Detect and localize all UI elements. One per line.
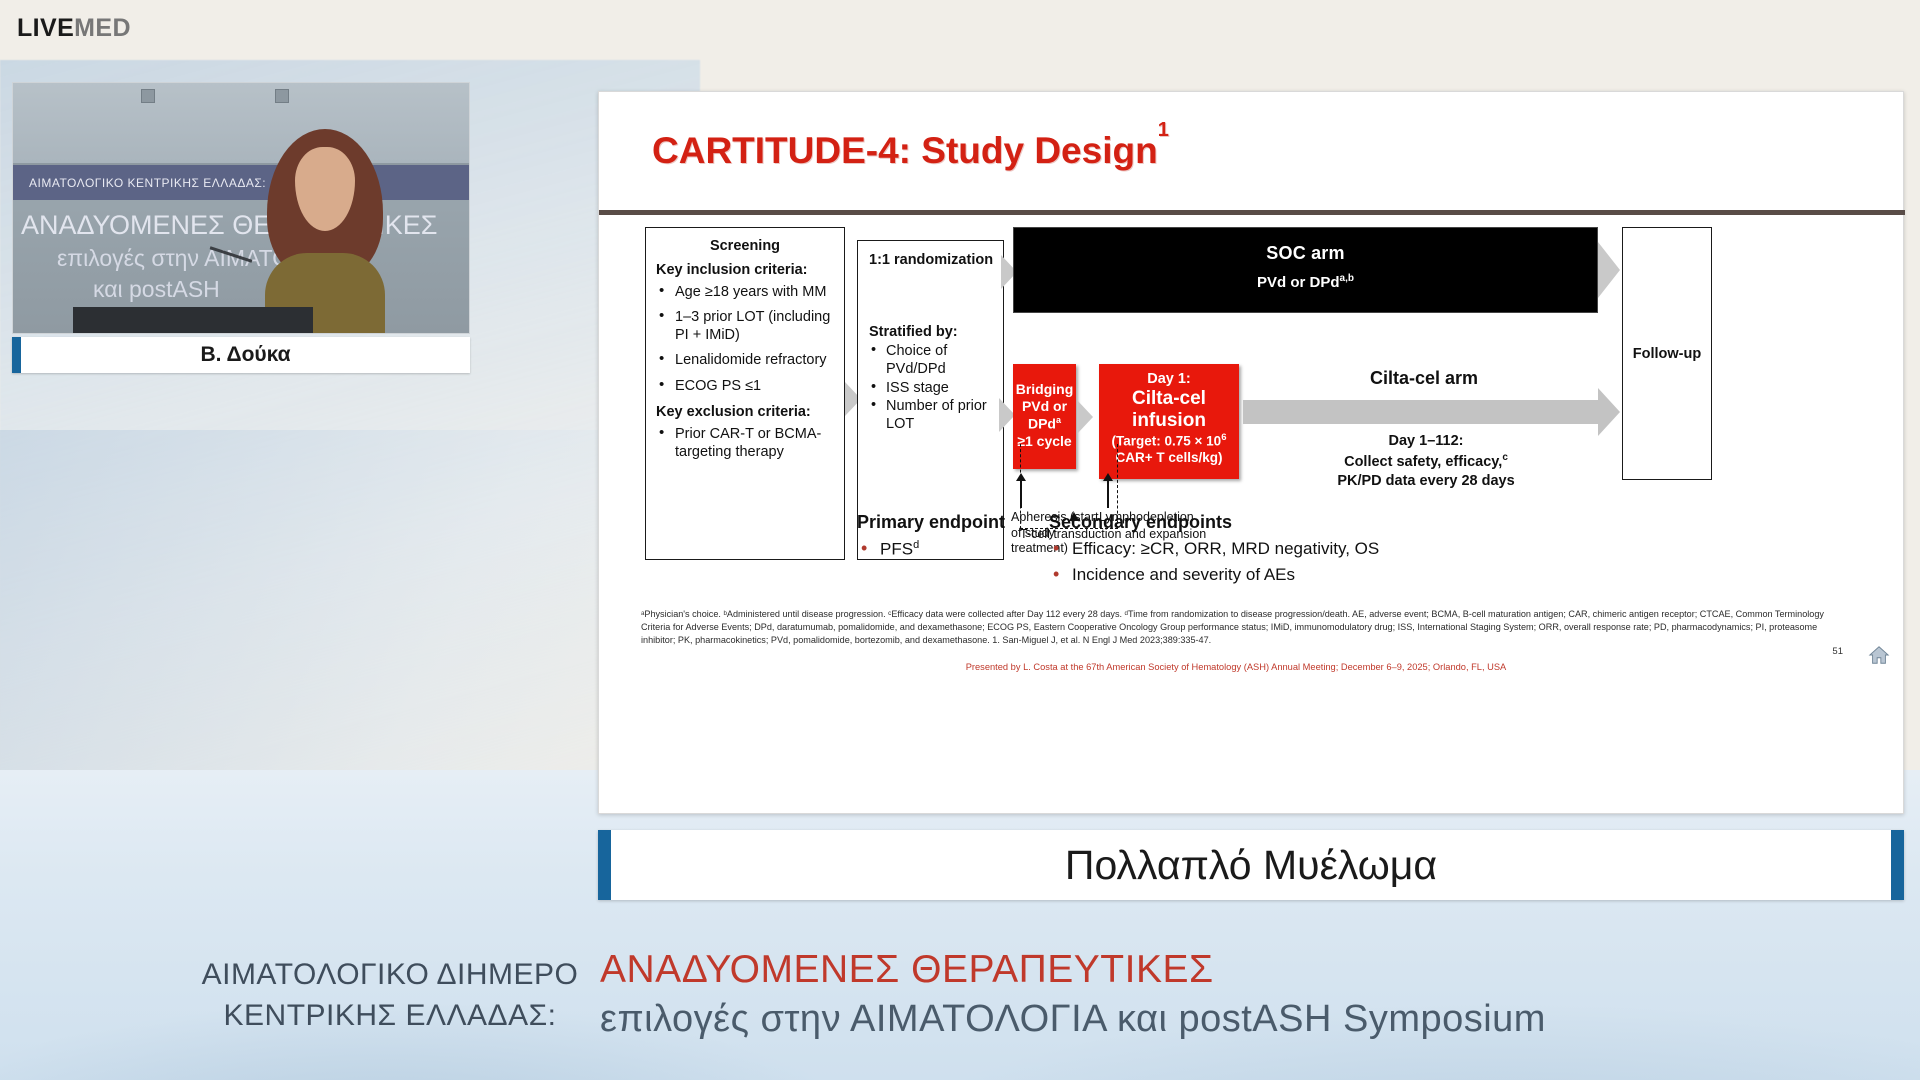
screening-box: Screening Key inclusion criteria: Age ≥1…: [645, 227, 845, 560]
list-item: Age ≥18 years with MM: [656, 283, 834, 301]
list-item: 1–3 prior LOT (including PI + IMiD): [656, 308, 834, 344]
speaker-panel[interactable]: ΑΙΜΑΤΟΛΟΓΙΚΟ ΚΕΝΤΡΙΚΗΣ ΕΛΛΑΔΑΣ: ΑΝΑΔΥΟΜΕ…: [12, 82, 470, 373]
chevron-right-icon-bridging: [1077, 400, 1093, 434]
event-title-right: ΑΝΑΔΥΟΜΕΝΕΣ ΘΕΡΑΠΕΥΤΙΚΕΣ επιλογές στην Α…: [600, 948, 1546, 1041]
follow-up-box: Follow-up: [1622, 227, 1712, 480]
cilta-target-line-2: CAR+ T cells/kg): [1099, 450, 1239, 466]
video-screen-line-3: και postASH: [21, 274, 470, 305]
secondary-endpoints-list: Efficacy: ≥CR, ORR, MRD negativity, OS I…: [1049, 538, 1379, 587]
video-wall-pin-right: [275, 89, 289, 103]
event-title-left-line-1: ΑΙΜΑΤΟΛΟΓΙΚΟ ΔΙΗΜΕΡΟ: [140, 955, 640, 996]
list-item: ECOG PS ≤1: [656, 377, 834, 395]
list-item: Number of prior LOT: [869, 398, 994, 434]
list-item: Choice of PVd/DPd: [869, 343, 994, 379]
primary-endpoint-heading: Primary endpoint: [857, 512, 1005, 533]
video-screen-band: ΑΙΜΑΤΟΛΟΓΙΚΟ ΚΕΝΤΡΙΚΗΣ ΕΛΛΑΔΑΣ:: [13, 165, 469, 200]
speaker-name-label: Β. Δούκα: [12, 337, 470, 373]
topic-banner: Πολλαπλό Μυέλωμα: [598, 830, 1904, 900]
secondary-endpoints-section: Secondary endpoints Efficacy: ≥CR, ORR, …: [1049, 512, 1379, 590]
video-wall-pin-left: [141, 89, 155, 103]
page-title: CARTITUDE-4: Study Design1: [652, 130, 1169, 172]
soc-arm-bar: SOC arm PVd or DPda,b: [1013, 227, 1598, 313]
event-title-left: ΑΙΜΑΤΟΛΟΓΙΚΟ ΔΙΗΜΕΡΟ ΚΕΝΤΡΙΚΗΣ ΕΛΛΑΔΑΣ:: [140, 955, 640, 1036]
topic-banner-text: Πολλαπλό Μυέλωμα: [1065, 842, 1437, 889]
list-item: Efficacy: ≥CR, ORR, MRD negativity, OS: [1049, 538, 1379, 561]
cilta-detail-line-3: PK/PD data every 28 days: [1271, 472, 1581, 491]
list-item: Incidence and severity of AEs: [1049, 564, 1379, 587]
presented-by-note: Presented by L. Costa at the 67th Americ…: [641, 662, 1831, 672]
event-title-right-line-2: επιλογές στην ΑΙΜΑΤΟΛΟΓΙΑ και postASH Sy…: [600, 998, 1546, 1041]
bridging-line-3: DPda: [1013, 415, 1076, 433]
bridging-line-2: PVd or: [1013, 398, 1076, 415]
soc-arm-regimen: PVd or DPda,b: [1014, 273, 1597, 291]
slide-footnotes: ᵃPhysician's choice. ᵇAdministered until…: [641, 608, 1831, 647]
cilta-cel-arm-band: [1243, 400, 1598, 424]
soc-arrow-icon: [1598, 242, 1620, 298]
cilta-cel-arm-label: Cilta-cel arm: [1299, 368, 1549, 389]
cilta-cel-infusion-box: Day 1: Cilta-cel infusion (Target: 0.75 …: [1099, 364, 1239, 479]
cilta-detail-line-2: Collect safety, efficacy,c: [1271, 451, 1581, 472]
cilta-arm-arrow-icon: [1598, 388, 1620, 436]
screening-heading: Screening: [656, 238, 834, 254]
video-screen-text: ΑΝΑΔΥΟΜΕΝΕΣ ΘΕΡΑΠΕΥΤΙΚΕΣ επιλογές στην Α…: [21, 207, 470, 306]
video-wall-top: [13, 83, 469, 165]
stratified-heading: Stratified by:: [869, 324, 994, 340]
exclusion-criteria-list: Prior CAR-T or BCMA-targeting therapy: [656, 425, 834, 461]
speaker-figure: [261, 129, 389, 334]
bridging-line-1: Bridging: [1013, 381, 1076, 398]
soc-regimen-text: PVd or DPd: [1257, 274, 1340, 291]
livemed-logo: LIVEMED: [17, 14, 131, 43]
speaker-video-feed[interactable]: ΑΙΜΑΤΟΛΟΓΙΚΟ ΚΕΝΤΡΙΚΗΣ ΕΛΛΑΔΑΣ: ΑΝΑΔΥΟΜΕ…: [12, 82, 470, 334]
soc-regimen-superscript: a,b: [1340, 273, 1354, 284]
cilta-name-line-1: Cilta-cel: [1099, 388, 1239, 410]
cilta-detail-line-1: Day 1–112:: [1271, 432, 1581, 451]
cilta-target-line-1: (Target: 0.75 × 106: [1099, 432, 1239, 449]
slide-page-number: 51: [1832, 646, 1843, 657]
speaker-desk: [73, 307, 313, 333]
title-divider: [599, 210, 1905, 215]
list-item: Prior CAR-T or BCMA-targeting therapy: [656, 425, 834, 461]
list-item: PFSd: [857, 538, 1005, 562]
soc-arm-title: SOC arm: [1014, 243, 1597, 264]
stratification-list: Choice of PVd/DPd ISS stage Number of pr…: [869, 343, 994, 434]
presentation-slide[interactable]: CARTITUDE-4: Study Design1 Screening Key…: [598, 91, 1904, 814]
list-item: Lenalidomide refractory: [656, 351, 834, 369]
inclusion-criteria-heading: Key inclusion criteria:: [656, 262, 834, 278]
logo-text-primary: LIVE: [17, 14, 74, 42]
secondary-endpoints-heading: Secondary endpoints: [1049, 512, 1379, 533]
home-icon[interactable]: [1867, 644, 1891, 666]
cilta-day-label: Day 1:: [1099, 371, 1239, 388]
event-title-right-line-1: ΑΝΑΔΥΟΜΕΝΕΣ ΘΕΡΑΠΕΥΤΙΚΕΣ: [600, 948, 1546, 992]
cilta-name-line-2: infusion: [1099, 410, 1239, 432]
slide-title-superscript: 1: [1158, 119, 1169, 141]
cilta-arm-details: Day 1–112: Collect safety, efficacy,c PK…: [1271, 432, 1581, 490]
list-item: ISS stage: [869, 380, 994, 398]
primary-endpoint-list: PFSd: [857, 538, 1005, 562]
event-title-left-line-2: ΚΕΝΤΡΙΚΗΣ ΕΛΛΑΔΑΣ:: [140, 996, 640, 1037]
slide-title-text: CARTITUDE-4: Study Design: [652, 130, 1158, 171]
inclusion-criteria-list: Age ≥18 years with MM 1–3 prior LOT (inc…: [656, 283, 834, 395]
video-screen-line-1: ΑΝΑΔΥΟΜΕΝΕΣ ΘΕΡΑΠΕΥΤΙΚΕΣ: [21, 207, 470, 243]
exclusion-criteria-heading: Key exclusion criteria:: [656, 404, 834, 420]
primary-endpoint-section: Primary endpoint PFSd: [857, 512, 1005, 565]
logo-text-secondary: MED: [74, 14, 131, 42]
randomization-title: 1:1 randomization: [869, 252, 994, 268]
